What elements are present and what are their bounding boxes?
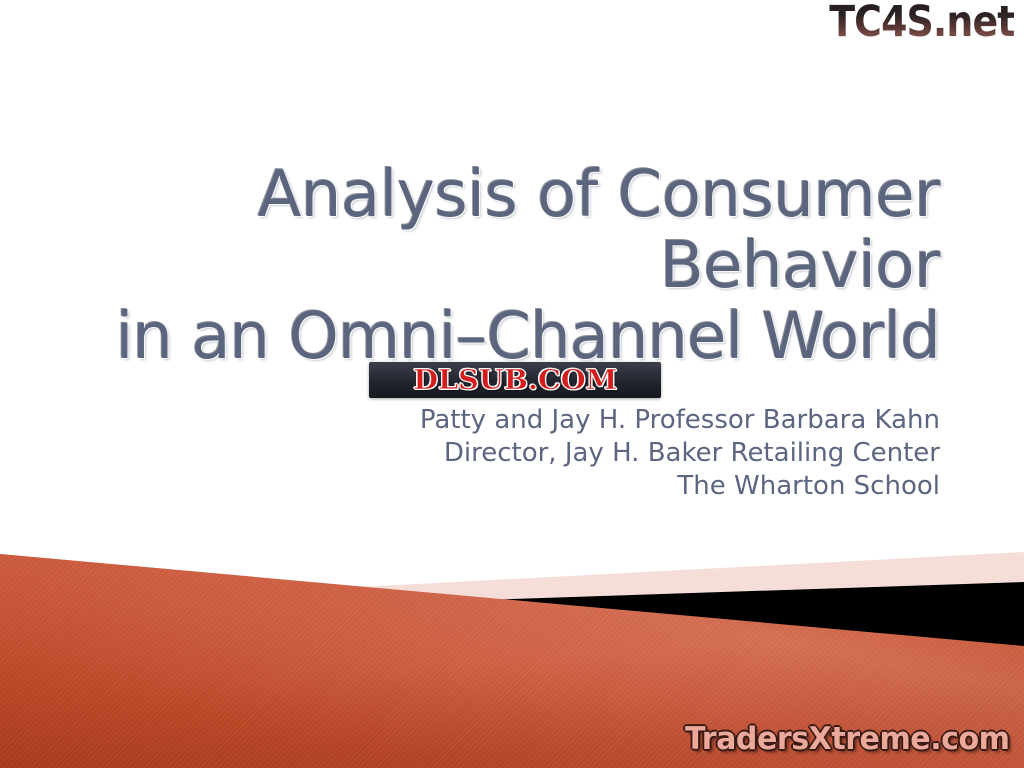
watermark-dlsub-badge: DLSUB.COM	[369, 362, 661, 398]
presentation-slide: TC4S.net Analysis of Consumer Behavior i…	[0, 0, 1024, 768]
subtitle: Patty and Jay H. Professor Barbara Kahn …	[140, 404, 940, 503]
subtitle-line-3: The Wharton School	[140, 470, 940, 503]
subtitle-line-1: Patty and Jay H. Professor Barbara Kahn	[140, 404, 940, 437]
watermark-dlsub-label: DLSUB.COM	[413, 367, 617, 394]
title-line-1: Analysis of Consumer	[60, 160, 940, 231]
watermark-tc4s: TC4S.net	[829, 0, 1014, 47]
subtitle-line-2: Director, Jay H. Baker Retailing Center	[140, 437, 940, 470]
page-title: Analysis of Consumer Behavior in an Omni…	[60, 160, 940, 373]
title-line-2: Behavior	[60, 231, 940, 302]
watermark-tradersxtreme: TradersXtreme.com	[686, 722, 1010, 756]
